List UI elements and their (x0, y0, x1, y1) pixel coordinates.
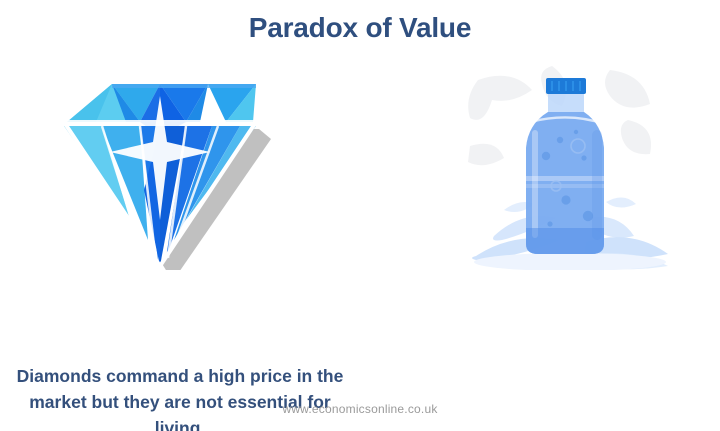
bottle-cap-icon (546, 78, 586, 94)
bottle-highlight-left (532, 130, 538, 238)
page-title: Paradox of Value (0, 12, 720, 44)
infographic-canvas: Paradox of Value (0, 0, 720, 431)
water-bottle-illustration (460, 60, 680, 270)
caption-diamond: Diamonds command a high price in the mar… (10, 363, 350, 431)
diamond-table-highlight (112, 84, 256, 88)
column-diamond: Diamonds command a high price in the mar… (0, 60, 360, 270)
column-water: Water is essential for living but its pr… (360, 60, 720, 270)
footer-url: www.economicsonline.co.uk (0, 402, 720, 416)
bottle-body (526, 94, 604, 254)
bottle-base-pool (526, 228, 604, 254)
bottle-shade-right (592, 130, 602, 240)
diamond-gem-illustration (40, 70, 280, 270)
